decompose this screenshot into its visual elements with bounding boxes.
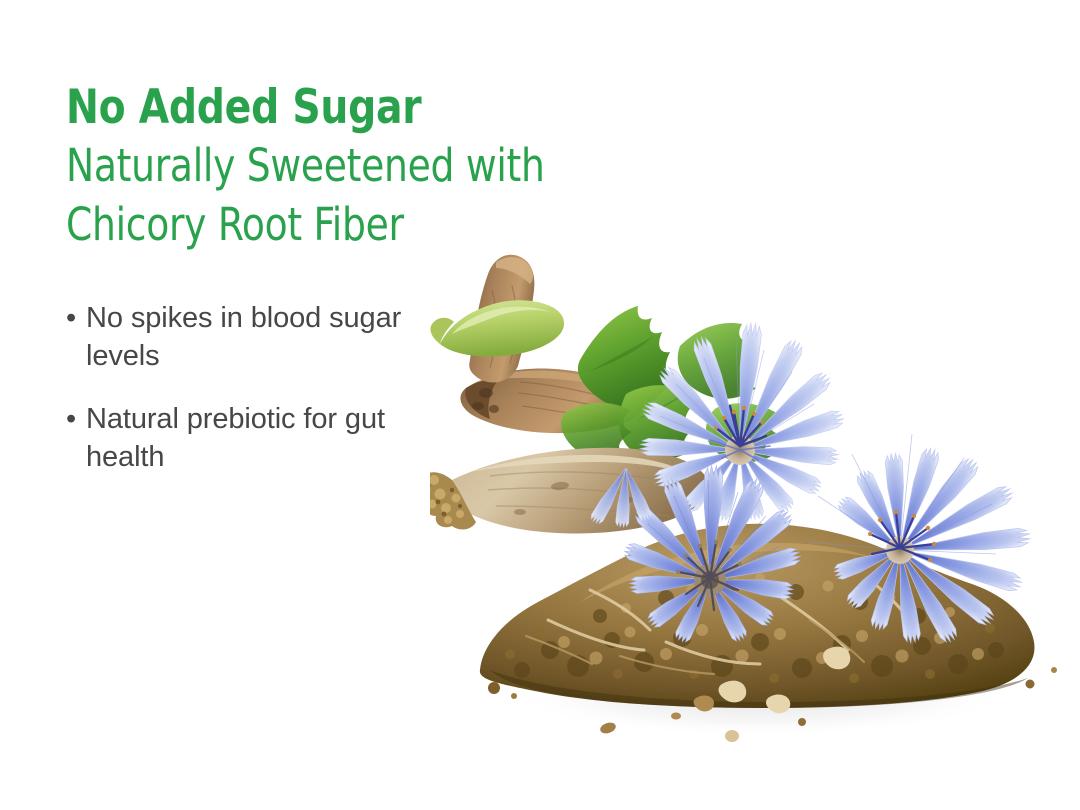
chicory-stalk xyxy=(430,300,564,356)
bullet-marker-icon: • xyxy=(66,300,76,338)
list-item: • Natural prebiotic for gut health xyxy=(64,401,444,476)
chicory-product-image xyxy=(430,150,1080,770)
page-title: No Added Sugar xyxy=(66,78,643,137)
list-item-label: Natural prebiotic for gut health xyxy=(86,403,385,473)
bullet-marker-icon: • xyxy=(66,401,76,439)
benefits-list: • No spikes in blood sugar levels • Natu… xyxy=(64,300,444,503)
list-item-label: No spikes in blood sugar levels xyxy=(86,302,401,372)
list-item: • No spikes in blood sugar levels xyxy=(64,300,444,375)
promo-banner: No Added Sugar Naturally Sweetened with … xyxy=(0,0,1080,810)
